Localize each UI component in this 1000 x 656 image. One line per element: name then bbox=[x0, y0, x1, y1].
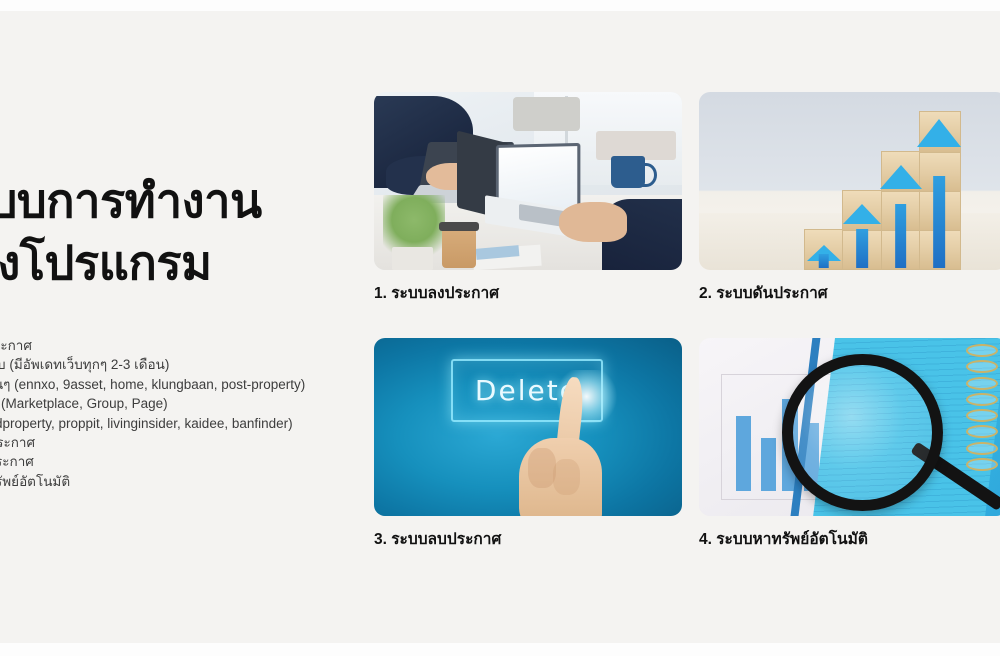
chart-bar bbox=[736, 416, 751, 491]
left-text-column: ระบบการทำงาน ของโปรแกรม ระบบลงประกาศ ฟรี… bbox=[0, 170, 358, 491]
card-1-caption: 1. ระบบลงประกาศ bbox=[374, 284, 682, 304]
blue-mug bbox=[611, 156, 645, 188]
coffee-cup-lid bbox=[439, 222, 479, 231]
growth-arrow bbox=[924, 119, 955, 269]
office-desk-laptops-photo bbox=[374, 92, 682, 270]
card-4-caption: 4. ระบบหาทรัพย์อัตโนมัติ bbox=[699, 530, 1000, 550]
slide-canvas: ระบบการทำงาน ของโปรแกรม ระบบลงประกาศ ฟรี… bbox=[0, 0, 1000, 656]
magnifying-glass-chart-photo bbox=[699, 338, 1000, 516]
rising-wooden-blocks-arrows-photo bbox=[699, 92, 1000, 270]
card-1: 1. ระบบลงประกาศ bbox=[374, 92, 682, 304]
card-3-caption: 3. ระบบลบประกาศ bbox=[374, 530, 682, 550]
knuckle-shade bbox=[553, 459, 581, 495]
page-title-line-1: ระบบการทำงาน bbox=[0, 170, 358, 232]
card-2: 2. ระบบดันประกาศ bbox=[699, 92, 1000, 304]
growth-arrow bbox=[885, 165, 916, 268]
page-title-line-2: ของโปรแกรม bbox=[0, 232, 358, 294]
magnifier-lens bbox=[782, 354, 943, 511]
spiral-ring bbox=[966, 458, 998, 471]
growth-arrow bbox=[810, 245, 838, 268]
list-item: ฟรีพิเศษอื่นๆ (ennxo, 9asset, home, klun… bbox=[0, 375, 358, 394]
spiral-ring bbox=[966, 425, 998, 438]
spiral-ring bbox=[966, 409, 998, 422]
notebook-spiral-binding bbox=[970, 342, 998, 477]
list-item: ระบบลงประกาศ bbox=[0, 336, 358, 355]
list-item: ฟรี 100 เว็บ (มีอัพเดทเว็บทุกๆ 2-3 เดือน… bbox=[0, 355, 358, 374]
person-right-hand bbox=[559, 202, 627, 241]
list-item: ระบบดันประกาศ bbox=[0, 433, 358, 452]
desk-phone bbox=[513, 97, 581, 131]
card-2-caption: 2. ระบบดันประกาศ bbox=[699, 284, 1000, 304]
plant-pot bbox=[392, 247, 432, 270]
list-item: Facebook (Marketplace, Group, Page) bbox=[0, 394, 358, 413]
list-item: ระบบลบประกาศ bbox=[0, 452, 358, 471]
spiral-ring bbox=[966, 393, 998, 406]
list-item: ระบบหาทรัพย์อัตโนมัติ bbox=[0, 472, 358, 491]
image-grid-row-1: 1. ระบบลงประกาศ bbox=[374, 92, 1000, 304]
feature-list: ระบบลงประกาศ ฟรี 100 เว็บ (มีอัพเดทเว็บท… bbox=[0, 336, 358, 491]
spiral-ring bbox=[966, 377, 998, 390]
image-grid: 1. ระบบลงประกาศ bbox=[374, 92, 1000, 550]
spiral-ring bbox=[966, 442, 998, 455]
page-bottom-edge bbox=[0, 643, 1000, 656]
card-3: Delete 3. ระบบลบประกาศ bbox=[374, 338, 682, 550]
spiral-ring bbox=[966, 360, 998, 373]
list-item: เสียเงิน (ddproperty, proppit, livingins… bbox=[0, 414, 358, 433]
page-top-edge bbox=[0, 0, 1000, 11]
delete-button-press-photo: Delete bbox=[374, 338, 682, 516]
coffee-cup bbox=[442, 226, 476, 269]
chart-bar bbox=[761, 438, 776, 491]
image-grid-row-2: Delete 3. ระบบลบประกาศ bbox=[374, 338, 1000, 550]
knuckle-shade bbox=[528, 448, 556, 487]
spiral-ring bbox=[966, 344, 998, 357]
growth-arrow bbox=[847, 204, 878, 268]
card-4: 4. ระบบหาทรัพย์อัตโนมัติ bbox=[699, 338, 1000, 550]
